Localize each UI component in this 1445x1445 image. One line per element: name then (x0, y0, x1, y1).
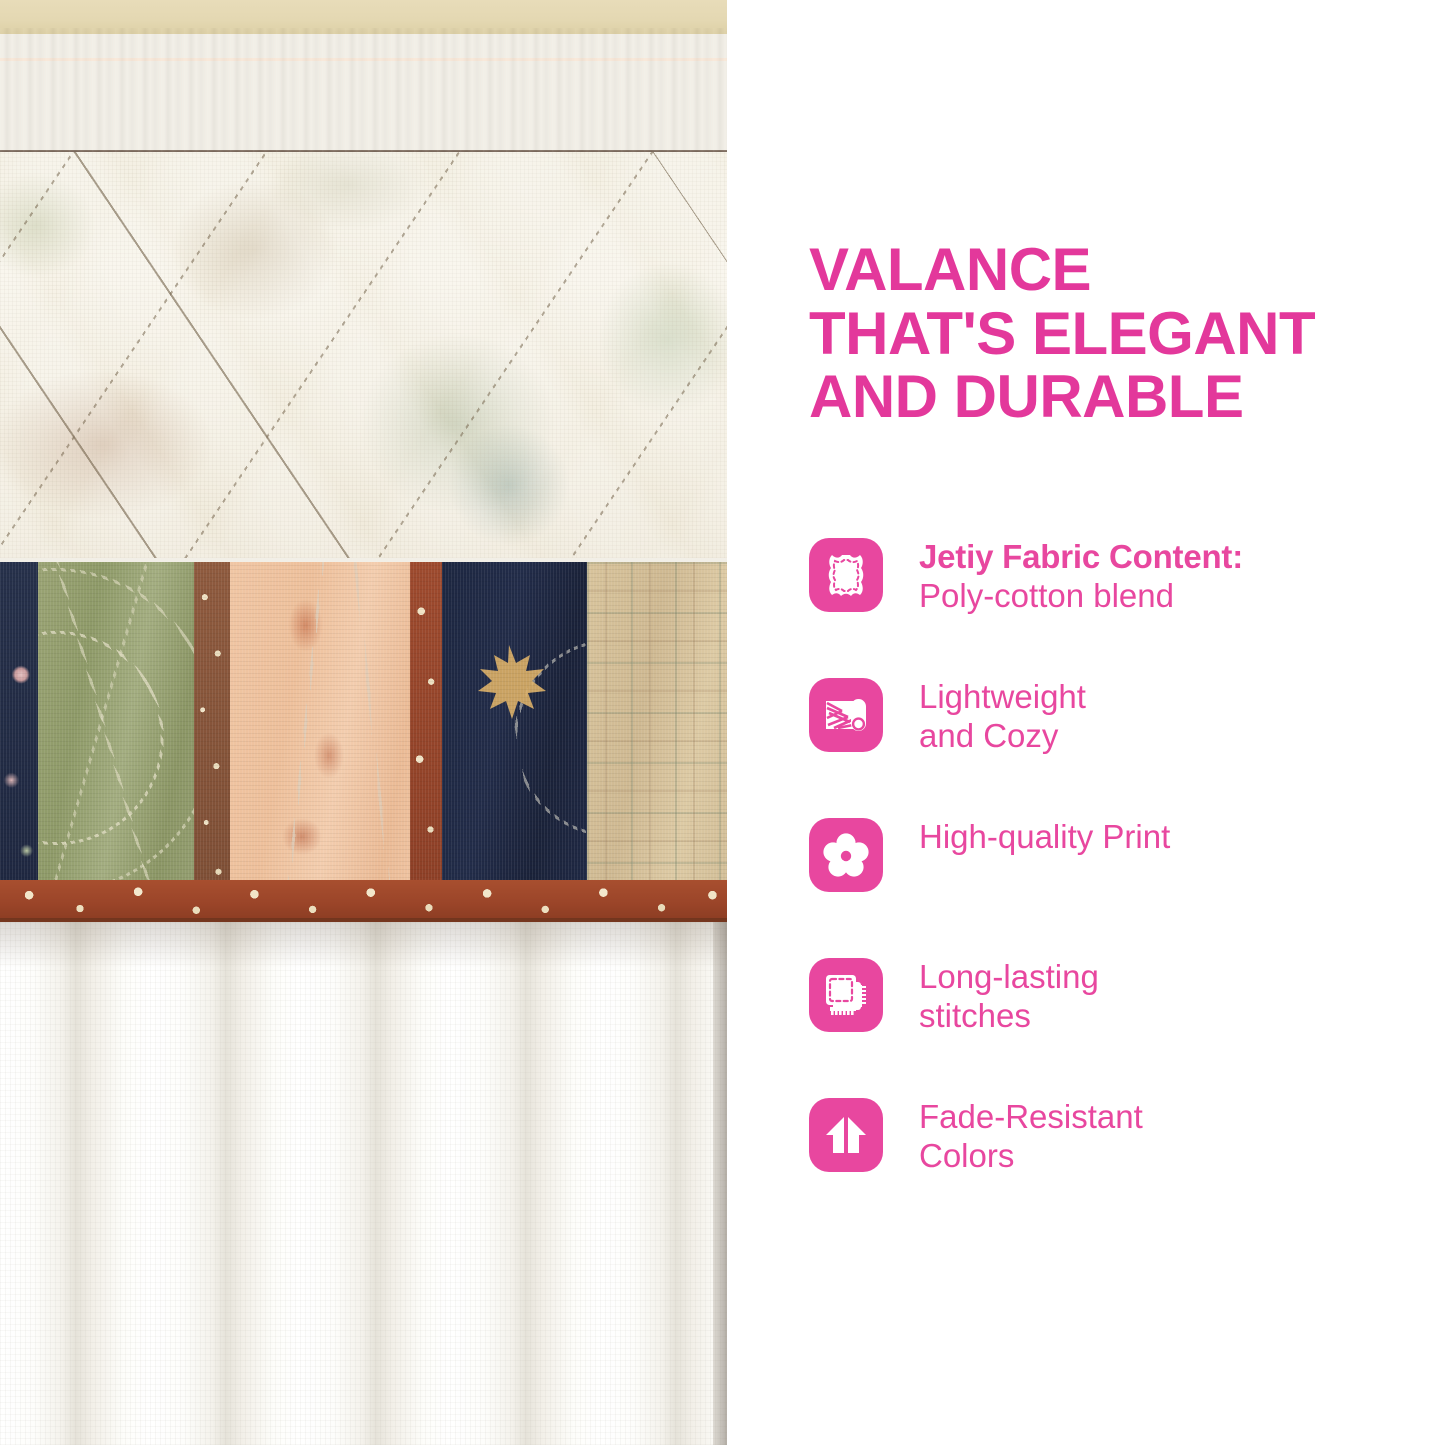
patch-tan-plaid (587, 562, 727, 914)
feature-normal-label: Poly-cotton blend (919, 577, 1243, 616)
feature-text-lightweight: Lightweight and Cozy (919, 676, 1086, 756)
feature-line-1: Long-lasting (919, 958, 1099, 997)
product-feature-graphic: VALANCE THAT'S ELEGANT AND DURABLE Jetiy… (0, 0, 1445, 1445)
headline-line-2: THAT'S ELEGANT (809, 302, 1409, 366)
sheer-white-curtain (0, 922, 727, 1445)
flower-icon (820, 829, 872, 881)
leather-hide-icon (820, 549, 872, 601)
feature-item-fabric-content: Jetiy Fabric Content: Poly-cotton blend (809, 536, 1429, 676)
patch-peach-floral (230, 562, 410, 914)
feature-line-1: Fade-Resistant (919, 1098, 1143, 1137)
patch-sage-green (38, 562, 194, 914)
feature-item-print: High-quality Print (809, 816, 1429, 956)
patch-navy-floral (0, 562, 38, 914)
maple-leaf-motif (466, 639, 552, 725)
feature-line-2: stitches (919, 997, 1099, 1036)
feature-list: Jetiy Fabric Content: Poly-cotton blend (809, 536, 1429, 1236)
cornice-highlight (0, 58, 727, 61)
quilted-valance-body (0, 152, 727, 558)
patch-navy-maple-leaf (442, 562, 587, 914)
feature-item-lightweight: Lightweight and Cozy (809, 676, 1429, 816)
patchwork-strip (0, 562, 727, 914)
feature-item-stitches: Long-lasting stitches (809, 956, 1429, 1096)
diamond-stitching (0, 152, 727, 558)
headline-line-3: AND DURABLE (809, 365, 1409, 429)
feature-strong-label: Jetiy Fabric Content: (919, 538, 1243, 577)
flower-icon-badge (809, 818, 883, 892)
double-up-arrow-icon-badge (809, 1098, 883, 1172)
feature-text-print: High-quality Print (919, 816, 1170, 857)
feature-item-fade-resistant: Fade-Resistant Colors (809, 1096, 1429, 1236)
feature-line-1: Lightweight (919, 678, 1086, 717)
product-photo (0, 0, 727, 1445)
stitched-layers-icon (820, 969, 872, 1021)
double-up-arrow-icon (820, 1109, 872, 1161)
content-panel: VALANCE THAT'S ELEGANT AND DURABLE Jetiy… (727, 0, 1445, 1445)
feature-text-fade-resistant: Fade-Resistant Colors (919, 1096, 1143, 1176)
patch-floral-sashing (194, 562, 230, 914)
stitched-layers-icon-badge (809, 958, 883, 1032)
patch-rust-sashing (410, 562, 442, 914)
feature-line-1: High-quality Print (919, 818, 1170, 857)
feature-line-2: and Cozy (919, 717, 1086, 756)
feature-text-stitches: Long-lasting stitches (919, 956, 1099, 1036)
fabric-roll-icon (820, 689, 872, 741)
leather-hide-icon-badge (809, 538, 883, 612)
rust-floral-binding (0, 880, 727, 922)
headline-line-1: VALANCE (809, 238, 1409, 302)
fabric-roll-icon-badge (809, 678, 883, 752)
page-title: VALANCE THAT'S ELEGANT AND DURABLE (809, 238, 1409, 429)
feature-text-fabric-content: Jetiy Fabric Content: Poly-cotton blend (919, 536, 1243, 616)
feature-line-2: Colors (919, 1137, 1143, 1176)
